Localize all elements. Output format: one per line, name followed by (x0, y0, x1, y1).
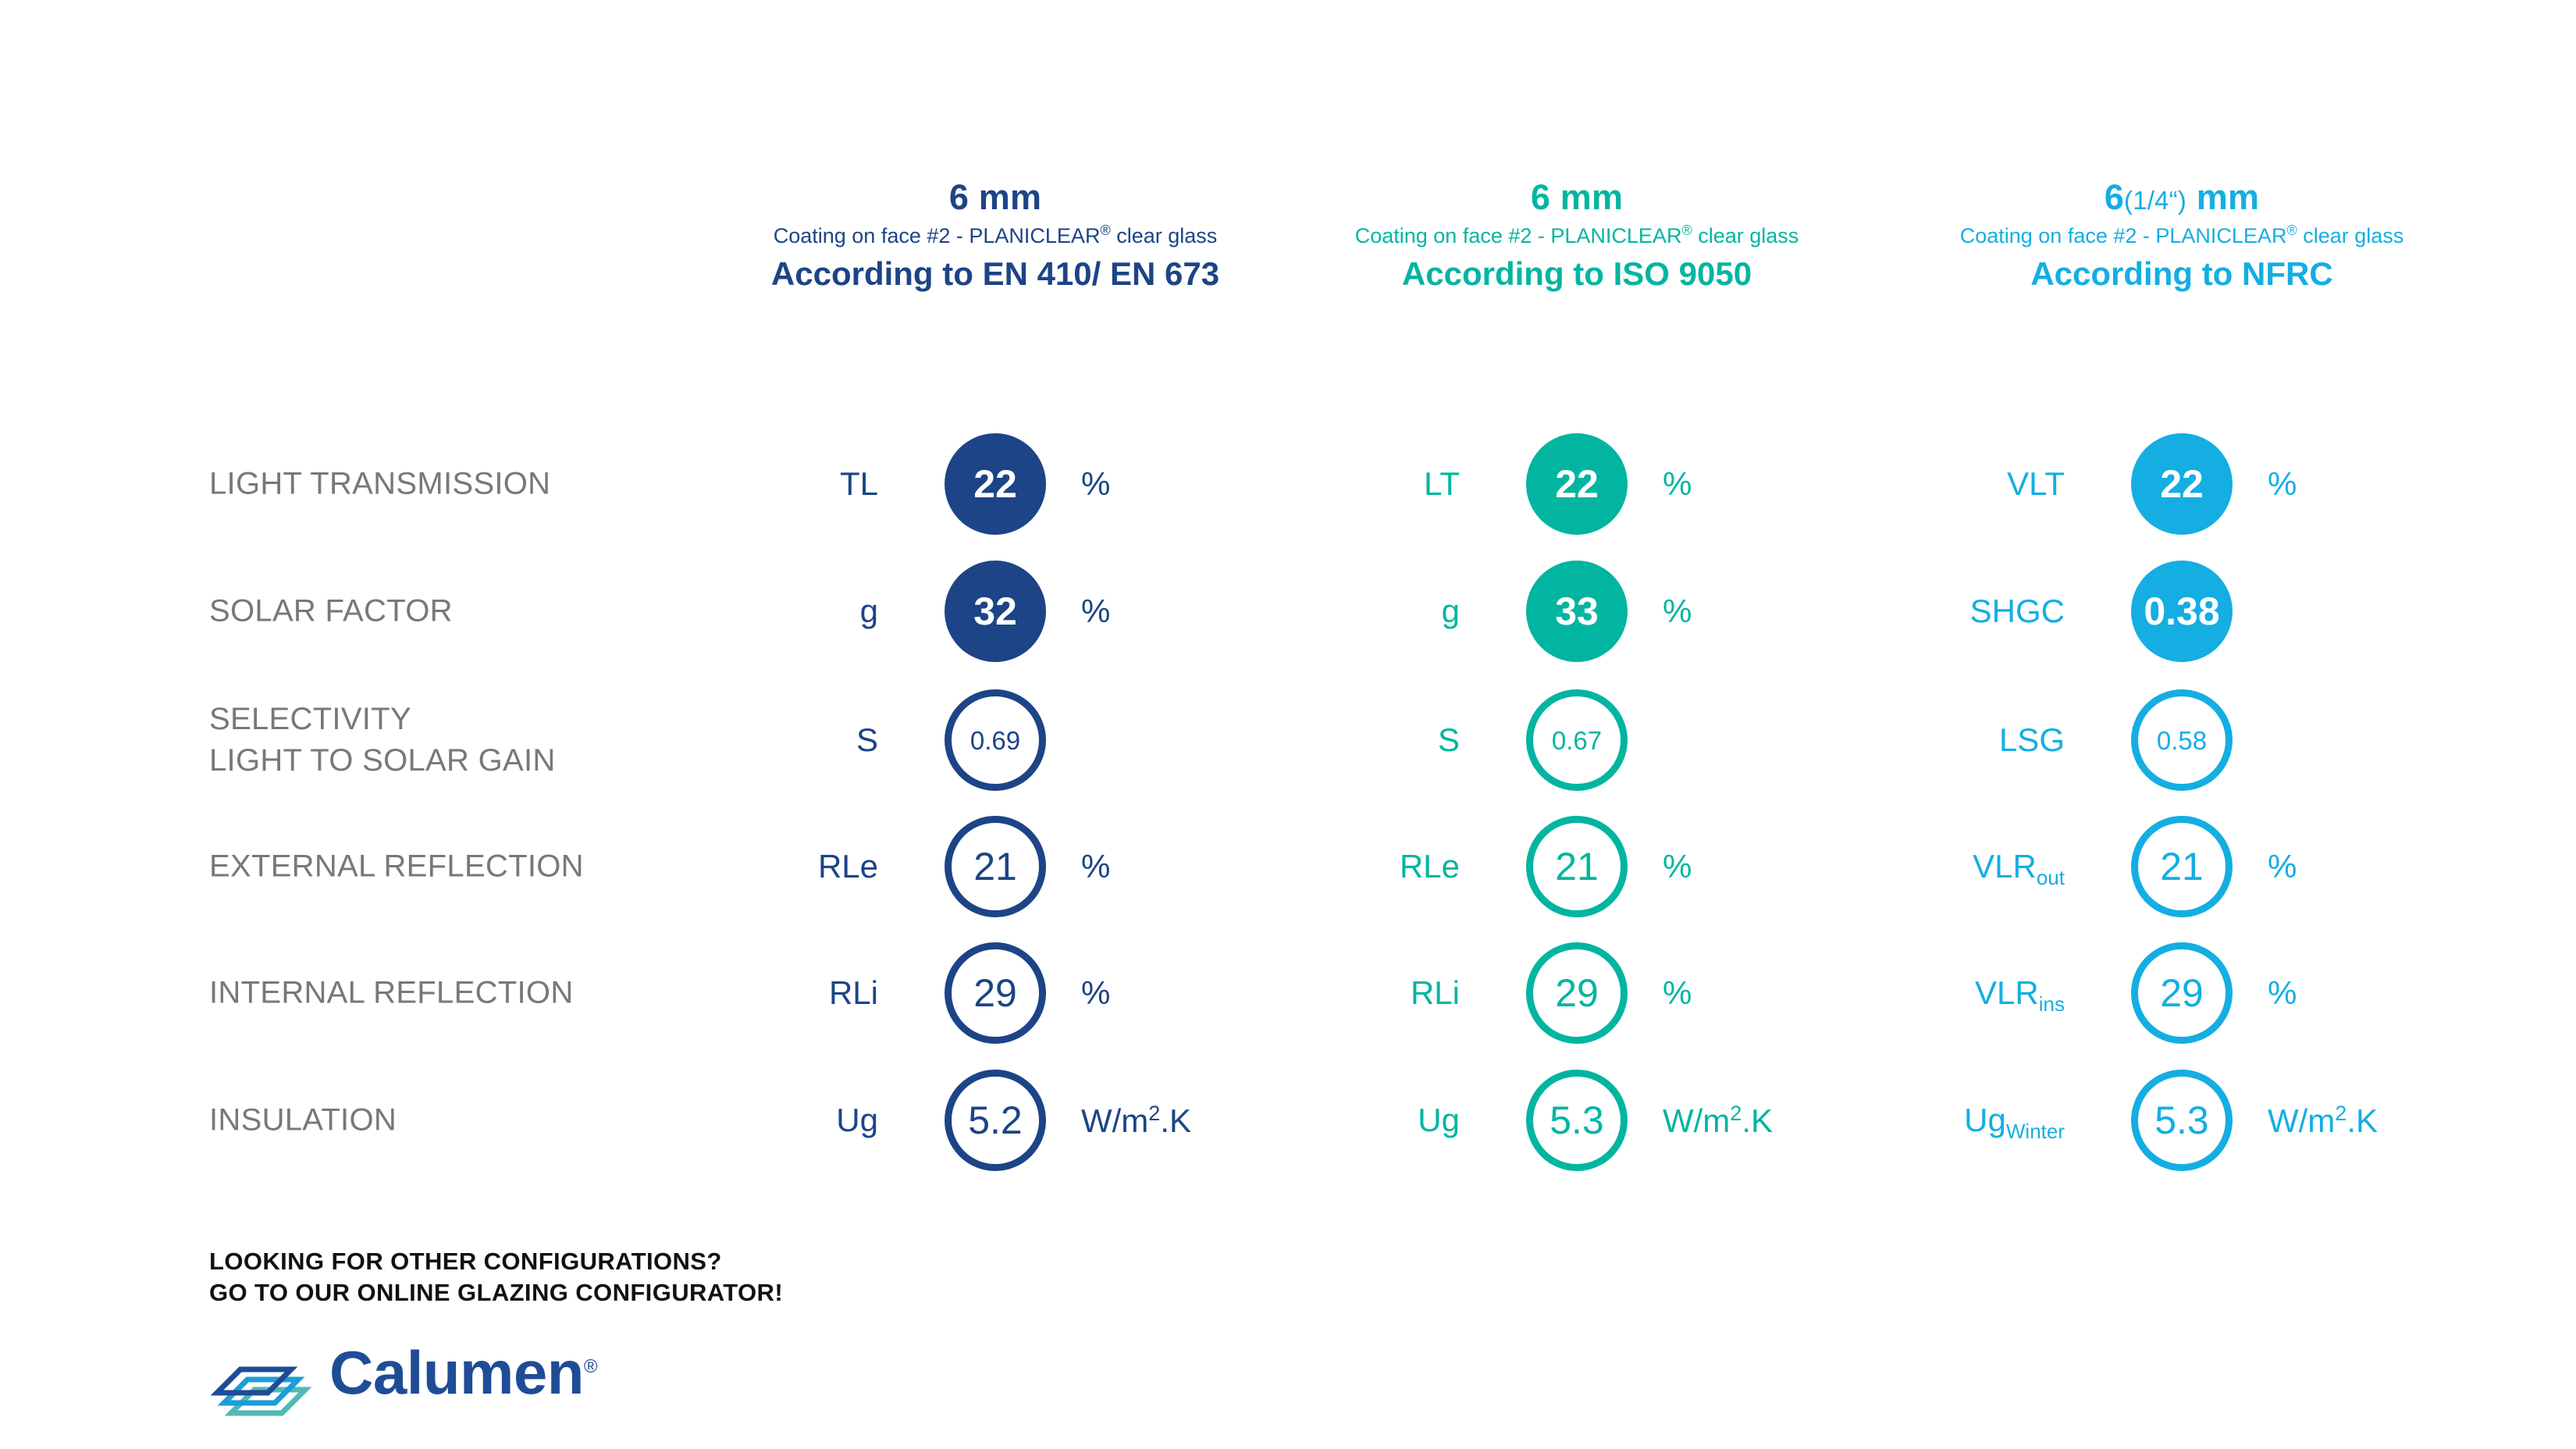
metric-value-bubble: 0.58 (2131, 689, 2233, 791)
metric-symbol: VLT (1752, 468, 2065, 500)
metric-symbol: VLRins (1752, 977, 2065, 1009)
column-thickness-nfrc: 6(1/4“) mm (1713, 178, 2576, 217)
calumen-logo[interactable]: Calumen® (209, 1321, 597, 1421)
metric-label: EXTERNAL REFLECTION (209, 846, 584, 888)
metric-value-bubble: 29 (2131, 942, 2233, 1044)
metric-symbol: Ug (1147, 1104, 1460, 1137)
metric-unit: % (2268, 850, 2297, 883)
metric-symbol: g (566, 595, 878, 628)
metric-symbol: UgWinter (1752, 1104, 2065, 1137)
metric-value-bubble: 5.2 (945, 1070, 1046, 1171)
metric-value-bubble: 21 (2131, 816, 2233, 917)
calumen-logo-mark-icon (209, 1321, 312, 1421)
metric-unit: % (1663, 468, 1692, 500)
metric-value-bubble: 29 (1526, 942, 1628, 1044)
metric-unit: % (1663, 850, 1692, 883)
metric-unit: W/m2.K (2268, 1103, 2378, 1137)
metric-label: LIGHT TRANSMISSION (209, 464, 550, 505)
metric-value-bubble: 0.38 (2131, 561, 2233, 662)
metric-unit: % (1081, 850, 1110, 883)
metric-value-bubble: 5.3 (2131, 1070, 2233, 1171)
metric-symbol: g (1147, 595, 1460, 628)
metric-unit: % (1081, 468, 1110, 500)
metric-symbol: RLe (566, 850, 878, 883)
metric-value-bubble: 22 (2131, 433, 2233, 535)
metric-value-bubble: 33 (1526, 561, 1628, 662)
datasheet-page: 6 mmCoating on face #2 - PLANICLEAR® cle… (0, 0, 2576, 1449)
column-headers: 6 mmCoating on face #2 - PLANICLEAR® cle… (0, 0, 2576, 312)
metric-value-bubble: 21 (1526, 816, 1628, 917)
metric-symbol: RLi (566, 977, 878, 1009)
metric-label: SELECTIVITY LIGHT TO SOLAR GAIN (209, 699, 556, 781)
metric-value-bubble: 0.67 (1526, 689, 1628, 791)
metric-symbol: SHGC (1752, 595, 2065, 628)
metric-unit: % (1081, 595, 1110, 628)
metric-value-bubble: 22 (1526, 433, 1628, 535)
column-standard-nfrc: According to NFRC (1713, 255, 2576, 292)
metric-label: INSULATION (209, 1100, 397, 1141)
metric-label: INTERNAL REFLECTION (209, 973, 574, 1014)
calumen-wordmark-text: Calumen (329, 1338, 584, 1407)
metric-value-bubble: 32 (945, 561, 1046, 662)
metric-unit: % (1663, 595, 1692, 628)
metric-value-bubble: 5.3 (1526, 1070, 1628, 1171)
metric-symbol: TL (566, 468, 878, 500)
metric-label: SOLAR FACTOR (209, 591, 453, 632)
metric-symbol: LT (1147, 468, 1460, 500)
metric-symbol: S (566, 724, 878, 757)
metric-value-bubble: 29 (945, 942, 1046, 1044)
metric-symbol: VLRout (1752, 850, 2065, 883)
metric-unit: % (2268, 977, 2297, 1009)
configurator-cta: LOOKING FOR OTHER CONFIGURATIONS? GO TO … (209, 1246, 783, 1309)
metric-unit: % (1081, 977, 1110, 1009)
column-coating-nfrc: Coating on face #2 - PLANICLEAR® clear g… (1713, 223, 2576, 247)
metric-symbol: RLi (1147, 977, 1460, 1009)
metric-symbol: RLe (1147, 850, 1460, 883)
metric-value-bubble: 22 (945, 433, 1046, 535)
metric-symbol: Ug (566, 1104, 878, 1137)
metric-unit: % (1663, 977, 1692, 1009)
metric-unit: % (2268, 468, 2297, 500)
metric-value-bubble: 0.69 (945, 689, 1046, 791)
column-header-nfrc: 6(1/4“) mmCoating on face #2 - PLANICLEA… (1713, 178, 2576, 292)
metric-symbol: LSG (1752, 724, 2065, 757)
calumen-wordmark: Calumen® (329, 1342, 597, 1403)
registered-mark: ® (584, 1356, 597, 1377)
footer: LOOKING FOR OTHER CONFIGURATIONS? GO TO … (209, 1246, 783, 1309)
metric-value-bubble: 21 (945, 816, 1046, 917)
metric-symbol: S (1147, 724, 1460, 757)
